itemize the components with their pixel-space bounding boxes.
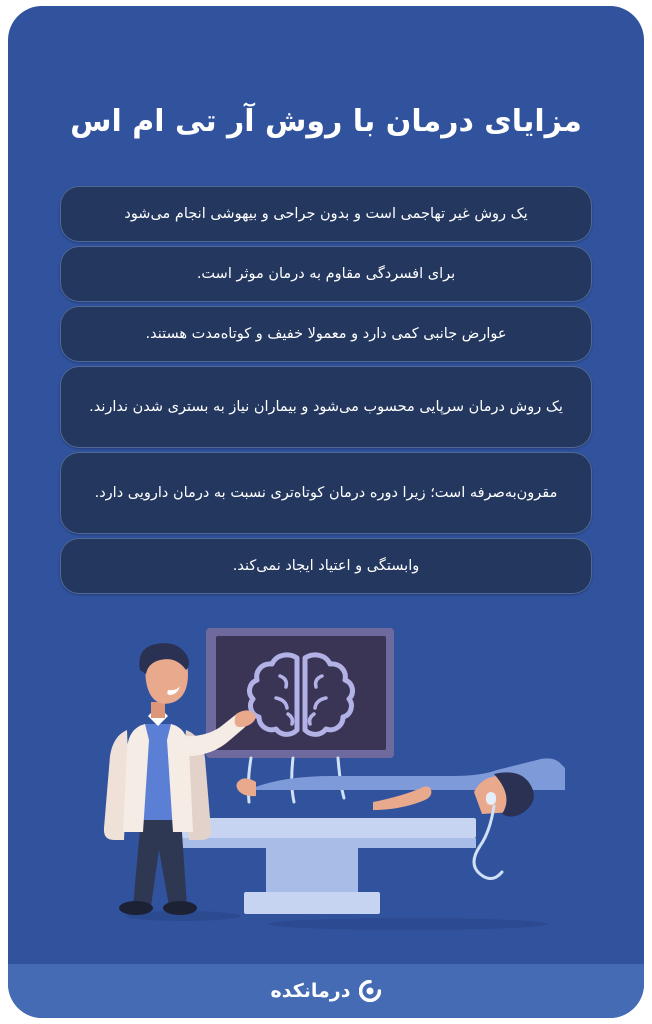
benefit-text: برای افسردگی مقاوم به درمان موثر است. xyxy=(197,261,455,288)
infographic-poster: مزایای درمان با روش آر تی ام اس یک روش غ… xyxy=(8,6,644,1018)
title-container: مزایای درمان با روش آر تی ام اس xyxy=(8,84,644,160)
list-item[interactable]: عوارض جانبی کمی دارد و معمولا خفیف و کوت… xyxy=(60,306,592,362)
list-item[interactable]: وابستگی و اعتیاد ایجاد نمی‌کند. xyxy=(60,538,592,594)
benefits-list: یک روش غیر تهاجمی است و بدون جراحی و بیه… xyxy=(60,186,592,594)
benefit-text: یک روش درمان سرپایی محسوب می‌شود و بیمار… xyxy=(89,394,563,421)
list-item[interactable]: یک روش درمان سرپایی محسوب می‌شود و بیمار… xyxy=(60,366,592,448)
list-item[interactable]: یک روش غیر تهاجمی است و بدون جراحی و بیه… xyxy=(60,186,592,242)
ring-circle-icon xyxy=(359,980,381,1002)
benefit-text: مقرون‌به‌صرفه است؛ زیرا دوره درمان کوتاه… xyxy=(95,480,558,507)
brand-name: درمانکده xyxy=(271,980,351,1002)
benefit-text: وابستگی و اعتیاد ایجاد نمی‌کند. xyxy=(233,553,420,580)
table-base xyxy=(244,892,380,914)
benefit-text: عوارض جانبی کمی دارد و معمولا خفیف و کوت… xyxy=(146,321,507,348)
list-item[interactable]: مقرون‌به‌صرفه است؛ زیرا دوره درمان کوتاه… xyxy=(60,452,592,534)
rtms-coil xyxy=(486,792,496,805)
benefit-text: یک روش غیر تهاجمی است و بدون جراحی و بیه… xyxy=(124,201,527,228)
patient-foot xyxy=(236,778,256,796)
coil-cable xyxy=(474,806,502,879)
page-title: مزایای درمان با روش آر تی ام اس xyxy=(70,104,582,140)
doctor-neck xyxy=(151,702,165,718)
footer-bar: درمانکده xyxy=(8,964,644,1018)
list-item[interactable]: برای افسردگی مقاوم به درمان موثر است. xyxy=(60,246,592,302)
floor-shadow xyxy=(268,918,548,930)
brain-scan-monitor xyxy=(206,628,394,758)
rtms-treatment-illustration xyxy=(8,606,644,966)
doctor-shoe xyxy=(163,901,197,915)
doctor-shoe xyxy=(119,901,153,915)
